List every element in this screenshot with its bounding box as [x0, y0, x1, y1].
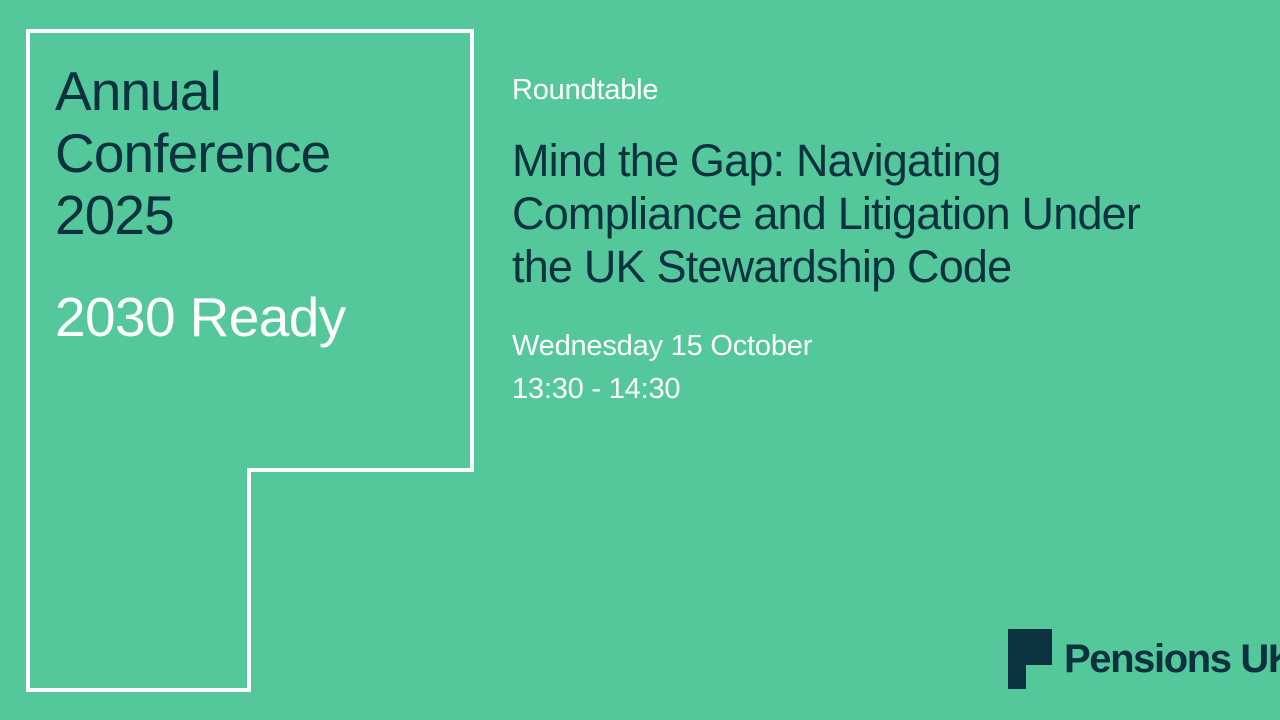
conference-tagline: 2030 Ready — [55, 286, 455, 348]
pensions-uk-logo: Pensions UK — [1008, 629, 1280, 689]
session-datetime: Wednesday 15 October 13:30 - 14:30 — [512, 325, 1202, 411]
conference-branding: Annual Conference 2025 2030 Ready — [55, 60, 455, 348]
pensions-uk-p-mark — [1008, 629, 1052, 689]
slide-canvas: Annual Conference 2025 2030 Ready Roundt… — [0, 0, 1280, 720]
conference-title: Annual Conference 2025 — [55, 60, 455, 246]
session-type-label: Roundtable — [512, 72, 1202, 108]
logo-wordmark: Pensions UK — [1064, 639, 1280, 679]
p-mark-path — [1008, 629, 1052, 689]
session-details: Roundtable Mind the Gap: Navigating Comp… — [512, 72, 1202, 411]
session-title: Mind the Gap: Navigating Compliance and … — [512, 134, 1202, 293]
